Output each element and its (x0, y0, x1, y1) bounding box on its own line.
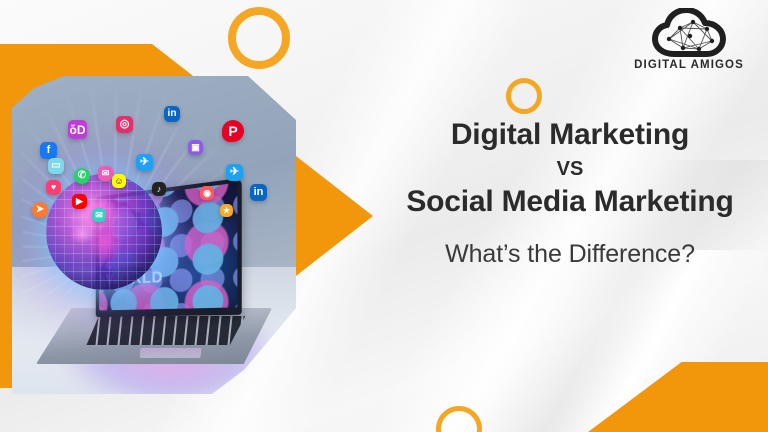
facebook-icon: f (40, 142, 57, 159)
mail-icon: ✉ (92, 208, 106, 222)
messenger-icon: ✉ (98, 166, 113, 181)
headline-line-1: Digital Marketing (380, 118, 760, 152)
twitter-icon-2: ✈ (136, 154, 153, 171)
youtube-icon: ▶ (72, 194, 87, 209)
laptop-keyboard (86, 316, 245, 345)
decorative-ring-top (228, 7, 290, 69)
laptop-trackpad (139, 348, 201, 358)
headline-vs: VS (380, 158, 760, 181)
camera-icon: ▣ (188, 140, 203, 155)
orange-corner-shape (588, 362, 768, 432)
bell-icon: ◉ (200, 186, 214, 200)
headline-line-2: Social Media Marketing (380, 185, 760, 219)
instagram-icon: ◎ (116, 116, 133, 133)
pinterest-icon: P (222, 120, 244, 142)
decorative-ring-bottom (436, 406, 482, 432)
cloud-network-icon (652, 8, 726, 58)
heart-icon: ♥ (46, 180, 61, 195)
chat-icon: ▭ (48, 158, 64, 174)
star-icon: ★ (220, 204, 233, 217)
snapchat-icon: ☺ (112, 174, 126, 188)
headline-subtitle: What’s the Difference? (380, 240, 760, 269)
whatsapp-icon: ✆ (74, 168, 90, 184)
thumbs-up-icon: ὄD (68, 120, 87, 139)
hero-hexagon-frame: CONNECT WORLD f◎inP✈in✆✉✈☺▶♪♥ὄD▭➤▣◉★✉ (0, 18, 380, 414)
glowing-globe-icon (46, 174, 162, 290)
twitter-icon: ✈ (226, 164, 243, 181)
linkedin-icon: in (164, 106, 180, 122)
promo-banner: CONNECT WORLD f◎inP✈in✆✉✈☺▶♪♥ὄD▭➤▣◉★✉ Di… (0, 0, 768, 432)
share-icon: ➤ (32, 202, 48, 218)
decorative-ring-middle (506, 78, 542, 114)
hero-photo: CONNECT WORLD f◎inP✈in✆✉✈☺▶♪♥ὄD▭➤▣◉★✉ (12, 76, 296, 394)
tiktok-icon: ♪ (152, 182, 166, 196)
laptop-base (36, 308, 272, 364)
linkedin-icon-2: in (250, 184, 267, 201)
brand-logo: DIGITAL AMIGOS (630, 8, 748, 71)
brand-name: DIGITAL AMIGOS (630, 59, 748, 71)
headline-block: Digital Marketing VS Social Media Market… (380, 118, 760, 269)
